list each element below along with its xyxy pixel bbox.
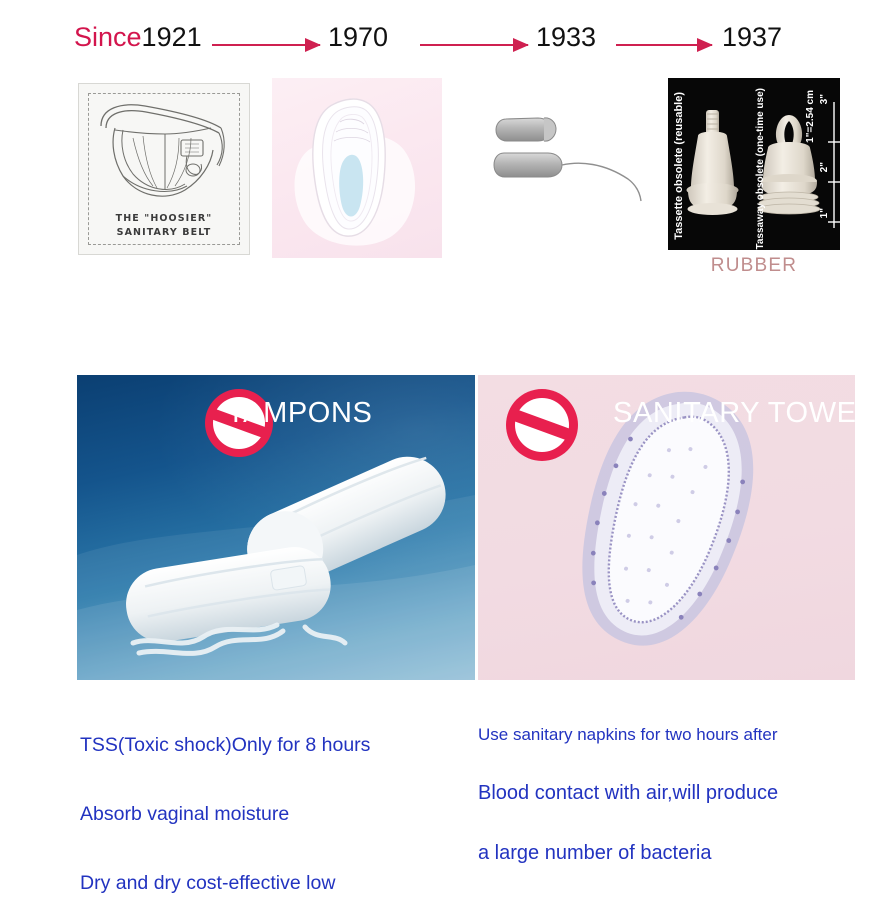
caption-towel-line-2: Blood contact with air,will produce xyxy=(478,781,778,805)
caption-tampons-line-1: TSS(Toxic shock)Only for 8 hours xyxy=(80,734,370,757)
comparison-panels: TAMPONS xyxy=(0,0,875,790)
caption-sanitary-towel: Use sanitary napkins for two hours after… xyxy=(478,688,778,883)
caption-tampons: TSS(Toxic shock)Only for 8 hours Absorb … xyxy=(80,688,370,918)
panel-title-sanitary-towel: SANITARY TOWEL xyxy=(613,397,855,430)
panel-title-tampons: TAMPONS xyxy=(227,397,372,430)
caption-tampons-line-3: Dry and dry cost-effective low xyxy=(80,872,370,895)
caption-tampons-line-2: Absorb vaginal moisture xyxy=(80,803,370,826)
prohibition-sign-icon xyxy=(506,389,578,461)
panel-tampons: TAMPONS xyxy=(77,375,475,680)
caption-towel-line-3: a large number of bacteria xyxy=(478,841,778,865)
panel-sanitary-towel: SANITARY TOWEL xyxy=(478,375,855,680)
caption-towel-line-1: Use sanitary napkins for two hours after xyxy=(478,724,778,745)
